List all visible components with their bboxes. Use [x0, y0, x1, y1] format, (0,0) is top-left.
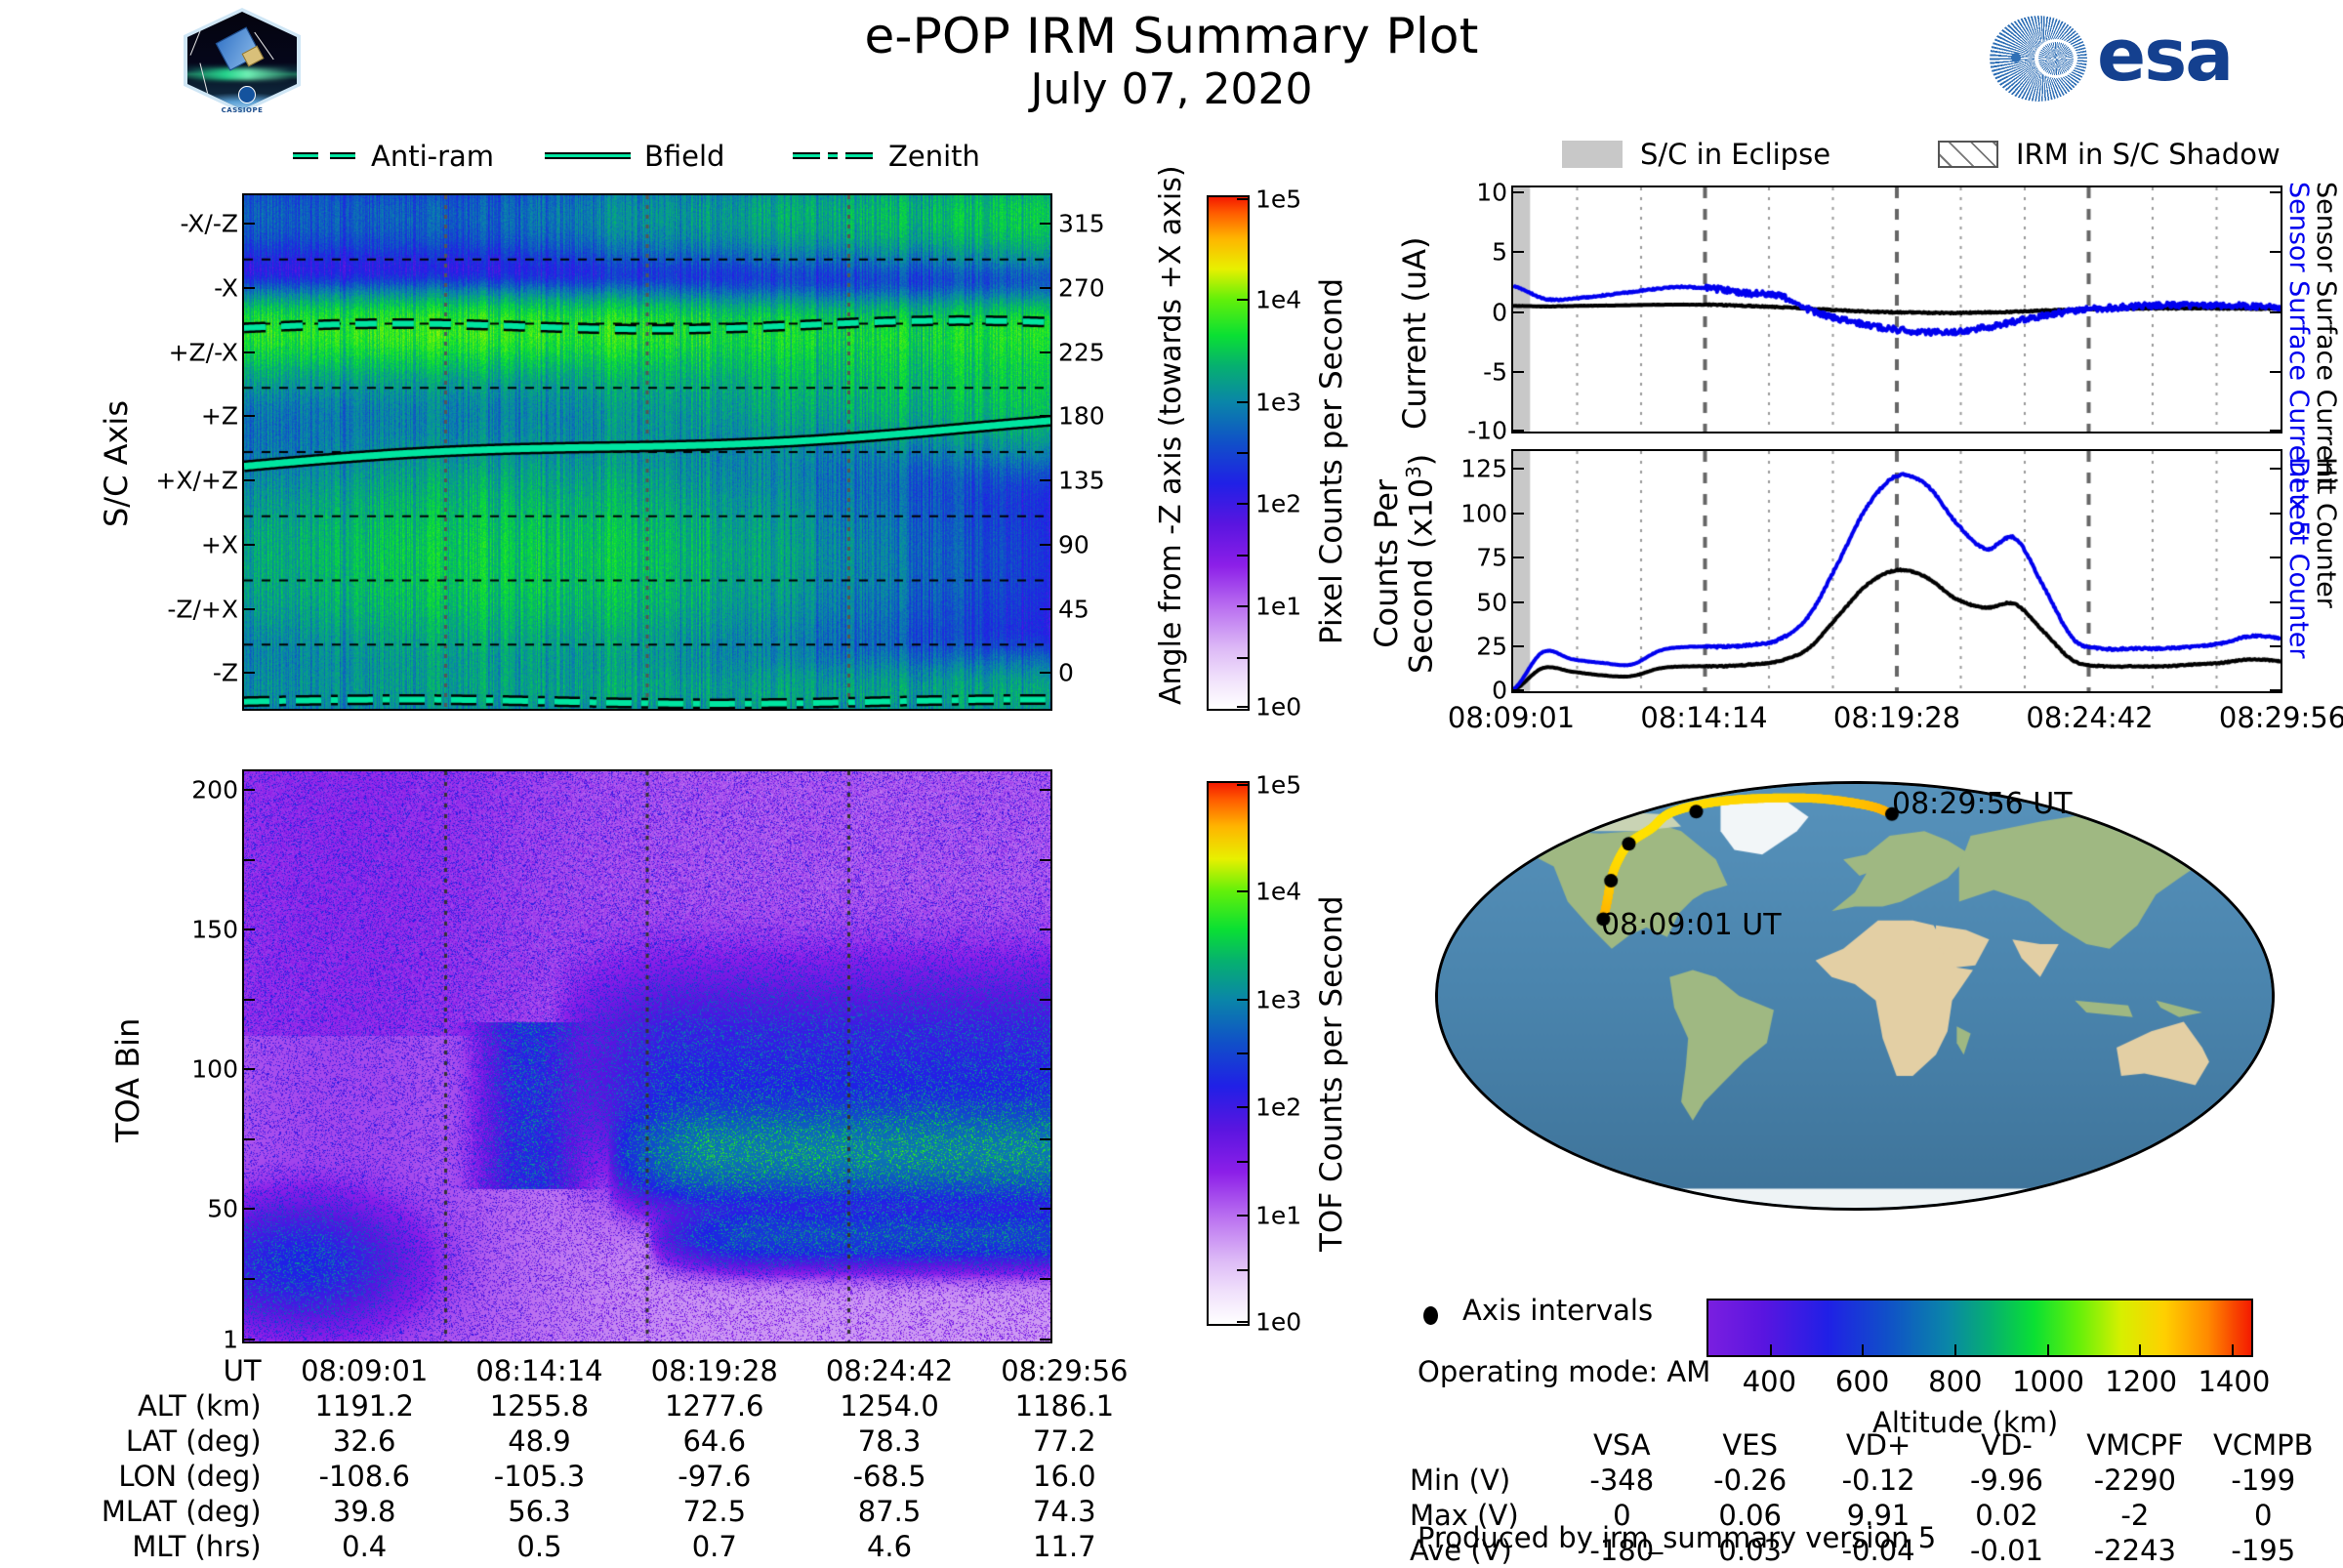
legend-swatch-anti-ram	[293, 152, 318, 159]
tof-cb-tick-1e4: 1e4	[1255, 877, 1301, 905]
legend-swatch-zenith	[793, 152, 820, 159]
voltage-row-label: Min (V)	[1410, 1463, 1558, 1498]
ephemeris-cell: -108.6	[277, 1459, 452, 1494]
angle-spectrogram-plot: -X/-Z -X +Z/-X +Z +X/+Z +X -Z/+X -Z 315 …	[242, 193, 1052, 711]
voltage-cell: 0	[2199, 1498, 2327, 1533]
angle-ytick-left-7: -Z	[213, 659, 238, 687]
legend-swatch-eclipse	[1562, 141, 1623, 168]
current-ytick-5: 5	[1492, 238, 1507, 267]
ephemeris-cell: 08:29:56	[977, 1353, 1152, 1388]
cassiope-mission-patch-icon: CASSIOPE	[184, 8, 301, 113]
ephemeris-cell: 0.7	[627, 1529, 802, 1564]
ephemeris-cell: 0.4	[277, 1529, 452, 1564]
counts-ytick-50: 50	[1476, 588, 1507, 616]
voltage-cell: -348	[1558, 1463, 1686, 1498]
altitude-tick-label: 400	[1743, 1365, 1796, 1398]
voltage-column-header: VSA	[1558, 1427, 1686, 1463]
ephemeris-cell: 64.6	[627, 1424, 802, 1459]
angle-ytick-left-6: -Z/+X	[167, 595, 238, 623]
ephemeris-cell: 11.7	[977, 1529, 1152, 1564]
ephemeris-cell: -68.5	[802, 1459, 976, 1494]
table-row: MLT (hrs)0.40.50.74.611.7	[59, 1529, 1152, 1564]
toa-ytick-100: 100	[191, 1054, 238, 1083]
ephemeris-cell: 08:24:42	[802, 1353, 976, 1388]
pixel-cb-tick-1e2: 1e2	[1255, 490, 1301, 518]
esa-logo-icon: esa	[1990, 10, 2282, 103]
counts-ytick-75: 75	[1476, 544, 1507, 572]
pixel-cb-tick-1e0: 1e0	[1255, 693, 1301, 722]
counts-ytick-25: 25	[1476, 633, 1507, 661]
voltage-cell: -2243	[2071, 1533, 2199, 1568]
esa-wordmark: esa	[2097, 14, 2232, 98]
current-plot: 10 5 0 -5 -10	[1511, 186, 2282, 433]
ephemeris-row-label: MLT (hrs)	[59, 1529, 277, 1564]
angle-ytick-left-1: -X	[214, 273, 238, 302]
table-header-row: VSAVESVD+VD-VMCPFVCMPB	[1410, 1427, 2327, 1463]
axis-intervals-legend-label: Axis intervals	[1462, 1294, 1653, 1327]
toa-panel-ylabel: TOA Bin	[109, 1142, 233, 1179]
toa-ytick-150: 150	[191, 915, 238, 943]
tof-counts-colorbar: 1e5 1e4 1e3 1e2 1e1 1e0	[1207, 781, 1250, 1326]
ephemeris-cell: 32.6	[277, 1424, 452, 1459]
ephemeris-cell: 08:09:01	[277, 1353, 452, 1388]
table-row: ALT (km)1191.21255.81277.61254.01186.1	[59, 1388, 1152, 1424]
ephemeris-cell: 1191.2	[277, 1388, 452, 1424]
ephemeris-cell: 39.8	[277, 1494, 452, 1529]
current-ytick-m5: -5	[1483, 357, 1507, 386]
ephemeris-cell: 1254.0	[802, 1388, 976, 1424]
tof-cb-tick-1e1: 1e1	[1255, 1202, 1301, 1230]
altitude-tick-label: 1400	[2198, 1365, 2270, 1398]
angle-ytick-right-2: 225	[1058, 338, 1105, 366]
ephemeris-cell: 48.9	[452, 1424, 627, 1459]
counts-ytick-100: 100	[1460, 499, 1507, 527]
map-start-time-label: 08:09:01 UT	[1601, 908, 1782, 942]
altitude-tick-label: 1200	[2105, 1365, 2177, 1398]
ephemeris-cell: 1255.8	[452, 1388, 627, 1424]
toa-spectrogram-plot: 200 150 100 50 1	[242, 769, 1052, 1343]
voltage-cell: -0.01	[1943, 1533, 2071, 1568]
ephemeris-row-label: LON (deg)	[59, 1459, 277, 1494]
legend-label-zenith: Zenith	[888, 140, 980, 173]
legend-swatch-anti-ram-2	[330, 152, 355, 159]
counts-xtick-label: 08:09:01	[1448, 701, 1575, 734]
ephemeris-cell: 56.3	[452, 1494, 627, 1529]
counts-plot: 125 100 75 50 25 0	[1511, 449, 2282, 693]
ephemeris-cell: 77.2	[977, 1424, 1152, 1459]
axis-interval-marker-icon	[1423, 1306, 1438, 1325]
voltage-cell: -2290	[2071, 1463, 2199, 1498]
pixel-cb-tick-1e5: 1e5	[1255, 185, 1301, 213]
ephemeris-row-label: LAT (deg)	[59, 1424, 277, 1459]
angle-ytick-left-0: -X/-Z	[181, 210, 238, 238]
ephemeris-cell: 08:19:28	[627, 1353, 802, 1388]
legend-swatch-bfield	[545, 152, 631, 159]
voltage-cell: -9.96	[1943, 1463, 2071, 1498]
altitude-tick-label: 800	[1928, 1365, 1982, 1398]
table-row: Min (V)-348-0.26-0.12-9.96-2290-199	[1410, 1463, 2327, 1498]
ephemeris-cell: 78.3	[802, 1424, 976, 1459]
ephemeris-row-label: UT	[59, 1353, 277, 1388]
voltage-cell: 0.02	[1943, 1498, 2071, 1533]
angle-ytick-left-3: +Z	[201, 402, 238, 431]
voltage-corner-cell	[1410, 1427, 1558, 1463]
tof-cb-tick-1e5: 1e5	[1255, 770, 1301, 799]
ephemeris-cell: 87.5	[802, 1494, 976, 1529]
mission-patch-label: CASSIOPE	[184, 106, 301, 114]
angle-ytick-left-5: +X	[201, 530, 238, 558]
angle-ytick-left-2: +Z/-X	[169, 338, 238, 366]
voltage-column-header: VES	[1686, 1427, 1814, 1463]
counts-xtick-label: 08:29:56	[2219, 701, 2343, 734]
ephemeris-cell: -105.3	[452, 1459, 627, 1494]
voltage-cell: -195	[2199, 1533, 2327, 1568]
voltage-cell: -0.12	[1814, 1463, 1942, 1498]
ephemeris-cell: 74.3	[977, 1494, 1152, 1529]
legend-label-irm-shadow: IRM in S/C Shadow	[2016, 138, 2281, 171]
legend-swatch-irm-shadow	[1938, 141, 1998, 168]
angle-ytick-right-1: 270	[1058, 273, 1105, 302]
tof-counts-colorbar-label: TOF Counts per Second	[1314, 1252, 1670, 1287]
angle-ytick-right-5: 90	[1058, 530, 1089, 558]
ephemeris-cell: 1186.1	[977, 1388, 1152, 1424]
counts-ytick-125: 125	[1460, 455, 1507, 483]
pixel-cb-tick-1e3: 1e3	[1255, 388, 1301, 416]
voltage-column-header: VD-	[1943, 1427, 2071, 1463]
legend-label-bfield: Bfield	[644, 140, 724, 173]
current-ytick-10: 10	[1476, 179, 1507, 207]
map-end-time-label: 08:29:56 UT	[1892, 787, 2073, 821]
counts-xtick-label: 08:14:14	[1640, 701, 1767, 734]
ephemeris-row-label: MLAT (deg)	[59, 1494, 277, 1529]
angle-ytick-left-4: +X/+Z	[155, 467, 238, 495]
ephemeris-row-label: ALT (km)	[59, 1388, 277, 1424]
legend-label-anti-ram: Anti-ram	[371, 140, 494, 173]
current-ytick-0: 0	[1492, 298, 1507, 326]
toa-ytick-50: 50	[207, 1194, 238, 1222]
table-row: UT08:09:0108:14:1408:19:2808:24:4208:29:…	[59, 1353, 1152, 1388]
angle-ytick-right-4: 135	[1058, 467, 1105, 495]
ephemeris-table: UT08:09:0108:14:1408:19:2808:24:4208:29:…	[59, 1353, 1152, 1564]
toa-ytick-1: 1	[223, 1325, 238, 1353]
angle-ytick-right-7: 0	[1058, 659, 1074, 687]
operating-mode-label: Operating mode: AM	[1418, 1355, 1710, 1388]
altitude-tick-label: 600	[1835, 1365, 1889, 1398]
pixel-counts-colorbar: 1e5 1e4 1e3 1e2 1e1 1e0	[1207, 195, 1250, 711]
ephemeris-cell: 16.0	[977, 1459, 1152, 1494]
tof-cb-tick-1e3: 1e3	[1255, 985, 1301, 1013]
toa-ytick-200: 200	[191, 775, 238, 804]
voltage-cell: -2	[2071, 1498, 2199, 1533]
altitude-tick-label: 1000	[2012, 1365, 2084, 1398]
voltage-cell: -0.26	[1686, 1463, 1814, 1498]
ephemeris-cell: 1277.6	[627, 1388, 802, 1424]
table-row: MLAT (deg)39.856.372.587.574.3	[59, 1494, 1152, 1529]
pixel-cb-tick-1e1: 1e1	[1255, 593, 1301, 621]
pixel-cb-tick-1e4: 1e4	[1255, 285, 1301, 313]
footer-produced-by: Produced by irm_summary version 5	[1418, 1521, 1936, 1554]
angle-ytick-right-3: 180	[1058, 402, 1105, 431]
ephemeris-cell: 08:14:14	[452, 1353, 627, 1388]
voltage-cell: -199	[2199, 1463, 2327, 1498]
voltage-column-header: VD+	[1814, 1427, 1942, 1463]
angle-ytick-right-0: 315	[1058, 210, 1105, 238]
legend-swatch-zenith-2	[845, 152, 873, 159]
angle-ytick-right-6: 45	[1058, 595, 1089, 623]
voltage-column-header: VMCPF	[2071, 1427, 2199, 1463]
ephemeris-cell: 4.6	[802, 1529, 976, 1564]
tof-cb-tick-1e2: 1e2	[1255, 1093, 1301, 1122]
legend-swatch-zenith-dot	[828, 152, 838, 159]
current-ytick-m10: -10	[1467, 416, 1507, 444]
ground-track-map	[1435, 781, 2275, 1211]
ephemeris-cell: 72.5	[627, 1494, 802, 1529]
tof-cb-tick-1e0: 1e0	[1255, 1308, 1301, 1337]
ephemeris-cell: -97.6	[627, 1459, 802, 1494]
counts-xtick-label: 08:19:28	[1833, 701, 1960, 734]
table-row: LON (deg)-108.6-105.3-97.6-68.516.0	[59, 1459, 1152, 1494]
counts-xtick-label: 08:24:42	[2026, 701, 2153, 734]
legend-label-eclipse: S/C in Eclipse	[1640, 138, 1830, 171]
table-row: LAT (deg)32.648.964.678.377.2	[59, 1424, 1152, 1459]
altitude-colorbar	[1706, 1299, 2253, 1357]
ephemeris-cell: 0.5	[452, 1529, 627, 1564]
voltage-column-header: VCMPB	[2199, 1427, 2327, 1463]
